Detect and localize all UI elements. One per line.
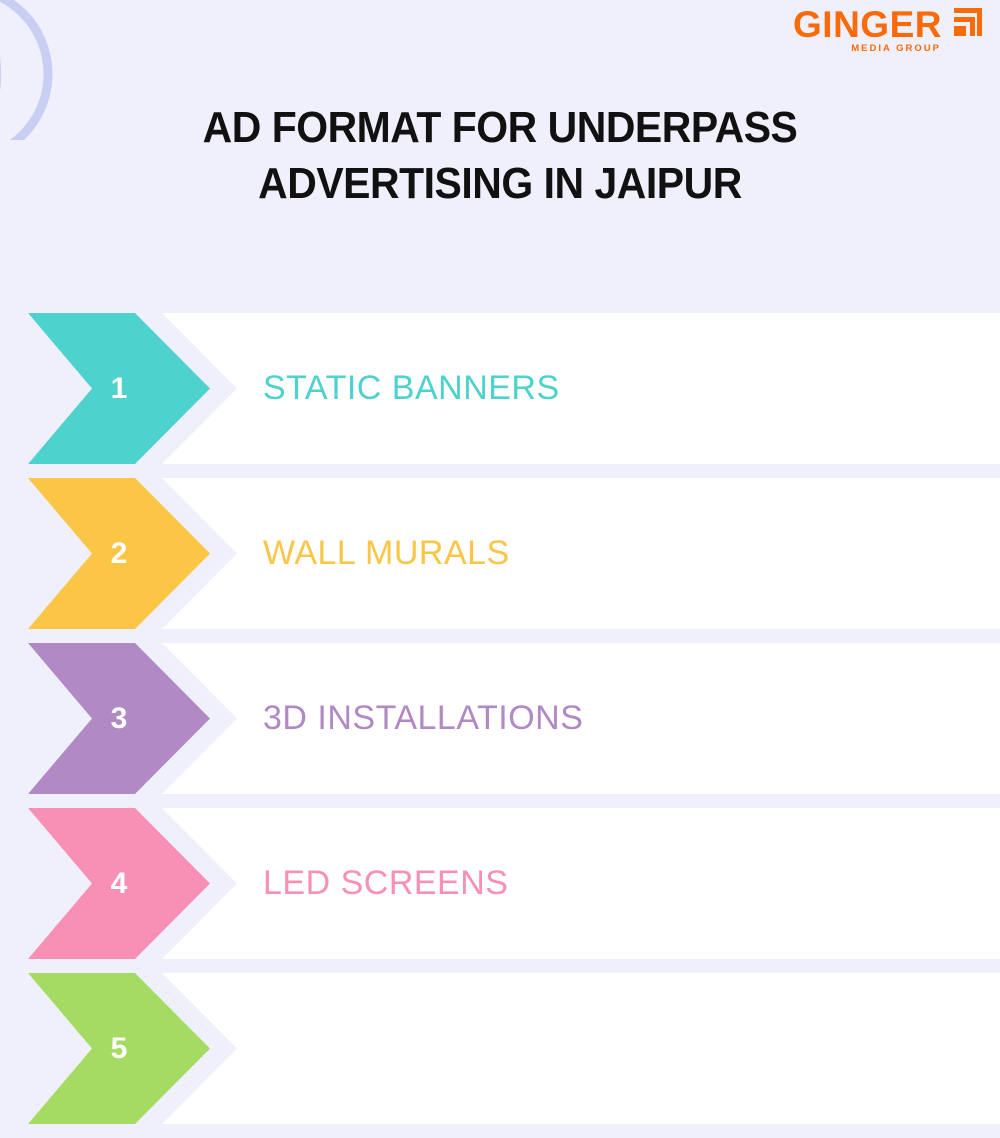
list-item-number: 1	[111, 374, 128, 404]
list-item-chevron: 5	[28, 973, 210, 1124]
list-item-label: 3D INSTALLATIONS	[263, 643, 583, 794]
list-item-label: STATIC BANNERS	[263, 313, 560, 464]
list-item-chevron: 1	[28, 313, 210, 464]
list-item-number: 2	[111, 539, 128, 569]
list-item-label: LED SCREENS	[263, 808, 508, 959]
ad-format-list: 1 STATIC BANNERS 2 WALL MURALS 3 3D INST…	[0, 313, 1000, 1138]
list-item-chevron: 2	[28, 478, 210, 629]
list-item[interactable]: 3 3D INSTALLATIONS	[0, 643, 1000, 794]
brand-wordmark: GINGER	[793, 6, 942, 44]
list-item-number: 5	[111, 1034, 128, 1064]
list-item[interactable]: 2 WALL MURALS	[0, 478, 1000, 629]
brand-mark	[948, 8, 982, 47]
list-item-band	[162, 973, 1000, 1124]
list-item-number: 3	[111, 704, 128, 734]
brand-logo: GINGER MEDIA GROUP	[793, 6, 982, 55]
brand-tagline: MEDIA GROUP	[851, 43, 941, 55]
list-item-label: WALL MURALS	[263, 478, 510, 629]
list-item[interactable]: 4 LED SCREENS	[0, 808, 1000, 959]
page-title: AD FORMAT FOR UNDERPASS ADVERTISING IN J…	[35, 100, 965, 212]
brand-text: GINGER MEDIA GROUP	[793, 6, 942, 55]
list-item-number: 4	[111, 869, 128, 899]
list-item-chevron: 4	[28, 808, 210, 959]
nested-corner-squares-icon	[948, 8, 982, 42]
list-item[interactable]: 1 STATIC BANNERS	[0, 313, 1000, 464]
list-item[interactable]: 5	[0, 973, 1000, 1124]
list-item-chevron: 3	[28, 643, 210, 794]
